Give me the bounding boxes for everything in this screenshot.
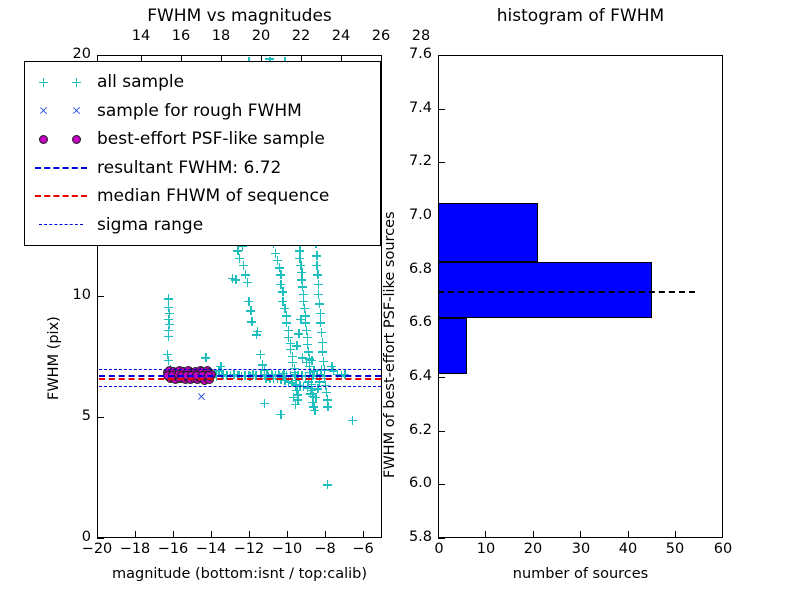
scatter-point <box>312 251 321 260</box>
plus-marker-icon <box>31 71 91 93</box>
scatter-point <box>164 303 173 312</box>
scatter-point <box>256 350 265 359</box>
top-xtick-label: 24 <box>329 28 353 44</box>
scatter-point <box>301 311 310 320</box>
scatter-point <box>307 380 316 389</box>
legend-item[interactable]: best-effort PSF-like sample <box>31 125 372 154</box>
scatter-point <box>282 318 291 327</box>
scatter-point <box>311 393 320 402</box>
bottom-xtick-label: −6 <box>345 541 381 557</box>
scatter-point <box>348 416 357 425</box>
scatter-point <box>296 315 305 324</box>
scatter-point <box>296 261 305 270</box>
scatter-point <box>298 282 307 291</box>
left-axis-tick <box>97 538 104 539</box>
scatter-point <box>318 338 327 347</box>
scatter-point <box>314 290 323 299</box>
scatter-point <box>275 263 284 272</box>
top-xtick-label: 14 <box>129 28 153 44</box>
scatter-point <box>246 306 255 315</box>
scatter-point <box>305 354 314 363</box>
scatter-point <box>201 353 210 362</box>
scatter-point <box>260 365 269 374</box>
scatter-point <box>308 392 317 401</box>
legend-item[interactable]: sample for rough FWHM <box>31 97 372 126</box>
legend-label: sample for rough FWHM <box>91 101 302 121</box>
scatter-point <box>253 327 262 336</box>
scatter-xaxis-label: magnitude (bottom:isnt / top:calib) <box>97 566 382 582</box>
scatter-point <box>197 392 206 401</box>
histogram-yaxis-label: FWHM of best-effort PSF-like sources <box>382 211 398 478</box>
top-xtick-label: 20 <box>249 28 273 44</box>
bottom-xtick-label: −8 <box>307 541 343 557</box>
scatter-point <box>306 389 315 398</box>
scatter-point <box>313 270 322 279</box>
scatter-point <box>307 386 316 395</box>
bottom-xtick-label: −16 <box>153 541 193 557</box>
scatter-point <box>312 261 321 270</box>
legend-item[interactable]: sigma range <box>31 211 372 240</box>
scatter-point <box>297 268 306 277</box>
scatter-point <box>319 357 328 366</box>
scatter-point <box>299 297 308 306</box>
histogram-xaxis-label: number of sources <box>438 566 723 582</box>
scatter-title: FWHM vs magnitudes <box>97 6 382 26</box>
scatter-point <box>286 339 295 348</box>
scatter-point <box>301 318 310 327</box>
legend-label: all sample <box>91 72 184 92</box>
dashed-red-line-icon <box>31 185 91 207</box>
scatter-point <box>165 309 174 318</box>
scatter-point <box>292 386 301 395</box>
scatter-point <box>164 332 173 341</box>
scatter-point <box>307 356 316 365</box>
bottom-xtick-label: −14 <box>191 541 231 557</box>
scatter-point <box>295 246 304 255</box>
hist-xtick-label: 20 <box>518 541 548 557</box>
hist-xtick-label: 40 <box>613 541 643 557</box>
reference-line <box>99 386 381 387</box>
figure-canvas: FWHM vs magnitudes 14 16 18 20 22 24 26 … <box>0 0 800 600</box>
scatter-point <box>280 304 289 313</box>
bottom-xtick-label: −10 <box>267 541 307 557</box>
scatter-point <box>289 393 298 402</box>
scatter-point <box>244 297 253 306</box>
scatter-point <box>284 326 293 335</box>
top-xtick-label: 26 <box>369 28 393 44</box>
scatter-yaxis-label: FWHM (pix) <box>46 316 62 400</box>
top-xtick-label: 16 <box>169 28 193 44</box>
scatter-point <box>323 480 332 489</box>
scatter-point <box>295 254 304 263</box>
bottom-xtick-label: −12 <box>229 541 269 557</box>
hist-xtick-label: 50 <box>660 541 690 557</box>
hist-xtick-label: 60 <box>708 541 738 557</box>
scatter-point <box>293 395 302 404</box>
ytick-label: 10 <box>57 287 91 303</box>
scatter-point <box>299 290 308 299</box>
legend-label: median FHWM of sequence <box>91 186 329 206</box>
scatter-legend[interactable]: all sample sample for rough FWHM best-ef… <box>24 61 381 246</box>
scatter-point <box>276 270 285 279</box>
reference-line <box>99 369 381 370</box>
ytick-label: 20 <box>57 46 91 62</box>
scatter-point <box>322 388 331 397</box>
scatter-point <box>284 333 293 342</box>
scatter-point <box>260 399 269 408</box>
legend-item[interactable]: all sample <box>31 68 372 97</box>
histogram-reference-line <box>438 291 695 293</box>
dashed-blue-line-icon <box>31 157 91 179</box>
hist-ytick-label: 7.4 <box>386 100 432 116</box>
scatter-point <box>228 274 237 283</box>
histogram-bar <box>438 262 652 318</box>
scatter-point <box>323 402 332 411</box>
scatter-point <box>278 287 287 296</box>
scatter-point <box>233 246 242 255</box>
scatter-point <box>163 350 172 359</box>
scatter-point <box>278 297 287 306</box>
scatter-point <box>323 395 332 404</box>
scatter-point <box>282 311 291 320</box>
scatter-point <box>164 315 173 324</box>
scatter-point <box>320 365 329 374</box>
hist-xtick-label: 30 <box>566 541 596 557</box>
scatter-point <box>235 254 244 263</box>
scatter-point <box>241 270 250 279</box>
scatter-point <box>165 320 174 329</box>
histogram-data-area <box>438 55 723 538</box>
legend-label: sigma range <box>91 215 203 235</box>
scatter-point <box>309 402 318 411</box>
scatter-point <box>303 383 312 392</box>
scatter-point <box>164 294 173 303</box>
scatter-point <box>302 358 311 367</box>
scatter-point <box>252 330 261 339</box>
dashdot-blue-line-icon <box>31 214 91 236</box>
scatter-point <box>303 333 312 342</box>
scatter-point <box>302 326 311 335</box>
scatter-point <box>294 329 303 338</box>
scatter-point <box>291 380 300 389</box>
scatter-point <box>164 326 173 335</box>
scatter-point <box>303 340 312 349</box>
scatter-point <box>317 365 326 374</box>
scatter-point <box>293 390 302 399</box>
scatter-point <box>300 304 309 313</box>
scatter-point <box>164 356 173 365</box>
ytick-label: 0 <box>57 529 91 545</box>
scatter-point <box>271 249 280 258</box>
scatter-point <box>308 398 317 407</box>
bottom-xtick-label: −18 <box>115 541 155 557</box>
scatter-point <box>315 299 324 308</box>
scatter-point <box>297 275 306 284</box>
scatter-point <box>298 353 307 362</box>
top-xtick-label: 22 <box>289 28 313 44</box>
scatter-point <box>318 347 327 356</box>
scatter-point <box>291 400 300 409</box>
scatter-point <box>273 256 282 265</box>
top-axis-tick <box>381 55 382 62</box>
reference-line <box>99 378 381 380</box>
ytick-label: 5 <box>57 408 91 424</box>
hist-ytick-label: 7.6 <box>386 46 432 62</box>
top-xtick-label: 18 <box>209 28 233 44</box>
circle-marker-icon <box>31 128 91 150</box>
hist-ytick-label: 7.2 <box>386 153 432 169</box>
legend-label: best-effort PSF-like sample <box>91 129 325 149</box>
scatter-point <box>288 352 297 361</box>
scatter-point <box>310 406 319 415</box>
scatter-point <box>276 280 285 289</box>
hist-xtick-label: 0 <box>424 541 454 557</box>
scatter-point <box>243 278 252 287</box>
legend-label: resultant FWHM: 6.72 <box>91 158 281 178</box>
histogram-bar <box>438 203 538 262</box>
top-xtick-label: 28 <box>409 28 433 44</box>
scatter-point <box>316 318 325 327</box>
scatter-point <box>276 410 285 419</box>
scatter-point <box>304 347 313 356</box>
scatter-point <box>314 280 323 289</box>
scatter-point <box>288 358 297 367</box>
scatter-point <box>292 341 301 350</box>
legend-item[interactable]: median FHWM of sequence <box>31 182 372 211</box>
legend-item[interactable]: resultant FWHM: 6.72 <box>31 154 372 183</box>
scatter-point <box>316 309 325 318</box>
histogram-bar <box>438 318 467 374</box>
scatter-point <box>286 345 295 354</box>
histogram-title: histogram of FWHM <box>438 6 723 26</box>
scatter-point <box>247 317 256 326</box>
scatter-point <box>231 275 240 284</box>
hist-xtick-label: 10 <box>471 541 501 557</box>
scatter-point <box>317 328 326 337</box>
scatter-point <box>239 261 248 270</box>
hist-ytick <box>438 538 445 539</box>
cross-marker-icon <box>31 100 91 122</box>
